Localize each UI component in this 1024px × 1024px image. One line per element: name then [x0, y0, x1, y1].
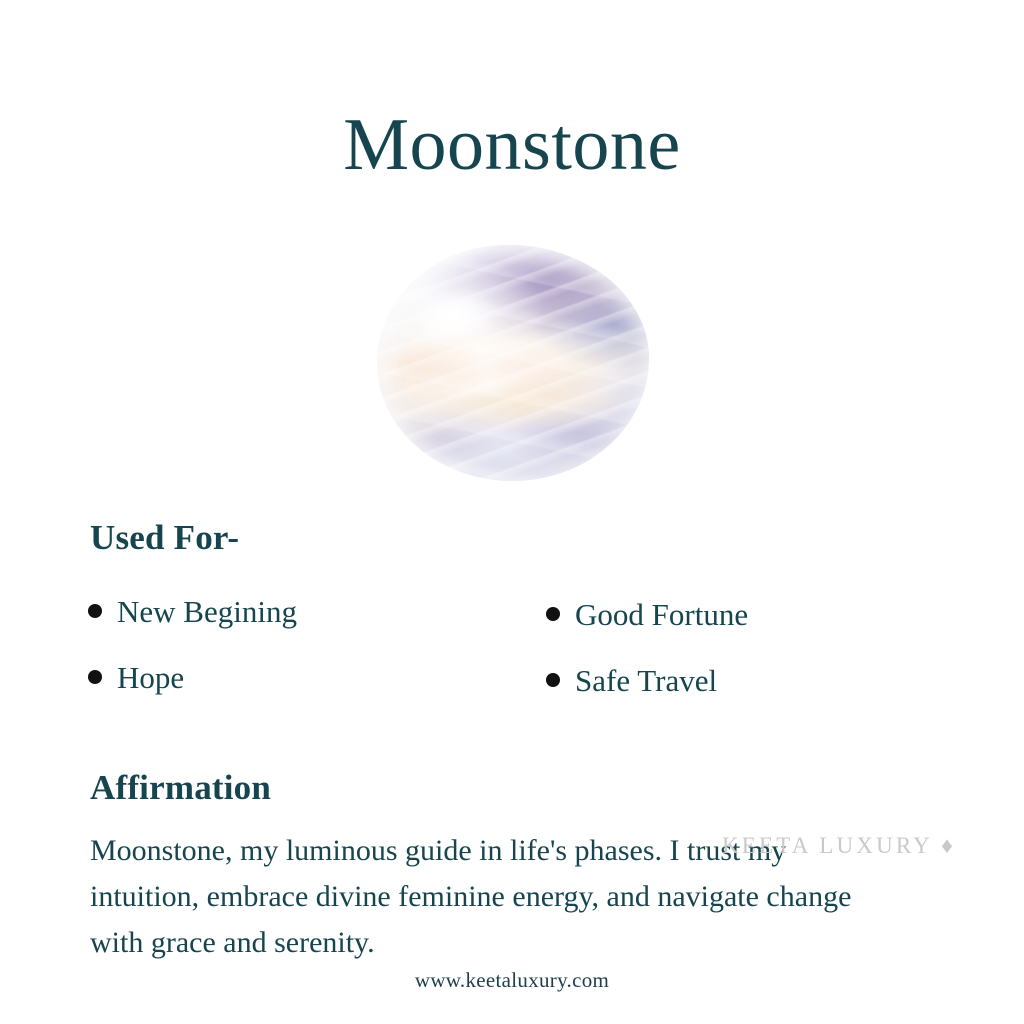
bullet-icon [546, 607, 560, 621]
page-title: Moonstone [0, 108, 1024, 182]
used-for-column-left: New Begining Hope [88, 596, 518, 728]
list-item: Safe Travel [546, 665, 966, 731]
moonstone-cabochon-icon [377, 245, 649, 481]
footer-website-url: www.keetaluxury.com [0, 968, 1024, 993]
bullet-icon [88, 604, 102, 618]
list-item: New Begining [88, 596, 518, 662]
bullet-icon [546, 673, 560, 687]
used-for-heading: Used For- [90, 518, 239, 558]
gemstone-image [377, 245, 649, 481]
affirmation-text: Moonstone, my luminous guide in life's p… [90, 828, 900, 966]
gemstone-info-card: Moonstone Used For- New Begining Hope Go… [0, 0, 1024, 1024]
list-item: Hope [88, 662, 518, 728]
bullet-icon [88, 670, 102, 684]
list-item: Good Fortune [546, 599, 966, 665]
list-item-label: Good Fortune [575, 599, 748, 630]
list-item-label: New Begining [117, 596, 297, 627]
used-for-column-right: Good Fortune Safe Travel [546, 599, 966, 731]
list-item-label: Hope [117, 662, 184, 693]
affirmation-heading: Affirmation [90, 768, 271, 808]
list-item-label: Safe Travel [575, 665, 717, 696]
gemstone-highlight [410, 287, 502, 348]
